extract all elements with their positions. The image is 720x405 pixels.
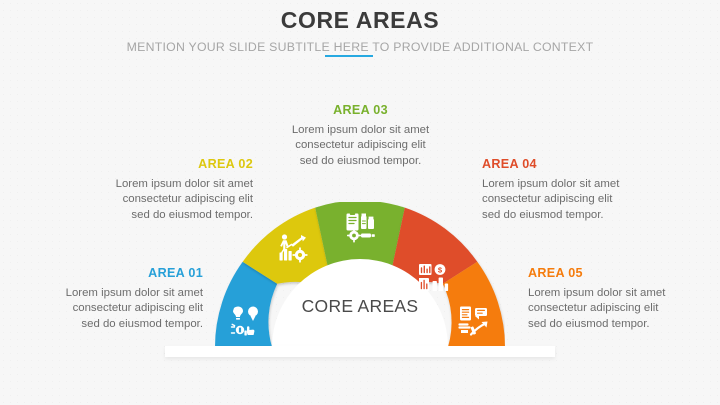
diagram-base-shadow (165, 346, 555, 357)
area-01-line-1: Lorem ipsum dolor sit amet (18, 286, 203, 301)
core-areas-semicircle-diagram: $ (215, 202, 505, 347)
area-block-01[interactable]: AREA 01 Lorem ipsum dolor sit amet conse… (18, 266, 203, 332)
area-04-body: Lorem ipsum dolor sit amet consectetur a… (482, 177, 667, 223)
area-04-title: AREA 04 (482, 157, 667, 171)
area-05-line-2: consectetur adipiscing elit (528, 301, 713, 316)
slide-canvas: CORE AREAS MENTION YOUR SLIDE SUBTITLE H… (0, 0, 720, 405)
area-block-02[interactable]: AREA 02 Lorem ipsum dolor sit amet conse… (68, 157, 253, 223)
area-03-line-2: consectetur adipiscing elit (268, 138, 453, 153)
area-05-line-1: Lorem ipsum dolor sit amet (528, 286, 713, 301)
area-block-04[interactable]: AREA 04 Lorem ipsum dolor sit amet conse… (482, 157, 667, 223)
diagram-center-label: CORE AREAS (215, 296, 505, 317)
area-05-title: AREA 05 (528, 266, 713, 280)
slide-header: CORE AREAS MENTION YOUR SLIDE SUBTITLE H… (0, 6, 720, 56)
slide-subtitle: MENTION YOUR SLIDE SUBTITLE HERE TO PROV… (127, 39, 594, 55)
area-block-03[interactable]: AREA 03 Lorem ipsum dolor sit amet conse… (268, 103, 453, 169)
area-02-line-2: consectetur adipiscing elit (68, 192, 253, 207)
page-title: CORE AREAS (0, 6, 720, 34)
area-01-body: Lorem ipsum dolor sit amet consectetur a… (18, 286, 203, 332)
area-05-line-3: sed do eiusmod tempor. (528, 317, 713, 332)
area-block-05[interactable]: AREA 05 Lorem ipsum dolor sit amet conse… (528, 266, 713, 332)
area-02-body: Lorem ipsum dolor sit amet consectetur a… (68, 177, 253, 223)
area-01-line-2: consectetur adipiscing elit (18, 301, 203, 316)
area-03-line-1: Lorem ipsum dolor sit amet (268, 123, 453, 138)
subtitle-underline-accent (325, 55, 373, 57)
area-04-line-3: sed do eiusmod tempor. (482, 208, 667, 223)
area-02-title: AREA 02 (68, 157, 253, 171)
area-03-title: AREA 03 (268, 103, 453, 117)
area-03-body: Lorem ipsum dolor sit amet consectetur a… (268, 123, 453, 169)
area-01-line-3: sed do eiusmod tempor. (18, 317, 203, 332)
area-04-line-2: consectetur adipiscing elit (482, 192, 667, 207)
area-01-title: AREA 01 (18, 266, 203, 280)
area-02-line-3: sed do eiusmod tempor. (68, 208, 253, 223)
area-05-body: Lorem ipsum dolor sit amet consectetur a… (528, 286, 713, 332)
area-03-line-3: sed do eiusmod tempor. (268, 154, 453, 169)
subtitle-wrapper: MENTION YOUR SLIDE SUBTITLE HERE TO PROV… (127, 39, 594, 55)
area-04-line-1: Lorem ipsum dolor sit amet (482, 177, 667, 192)
area-02-line-1: Lorem ipsum dolor sit amet (68, 177, 253, 192)
